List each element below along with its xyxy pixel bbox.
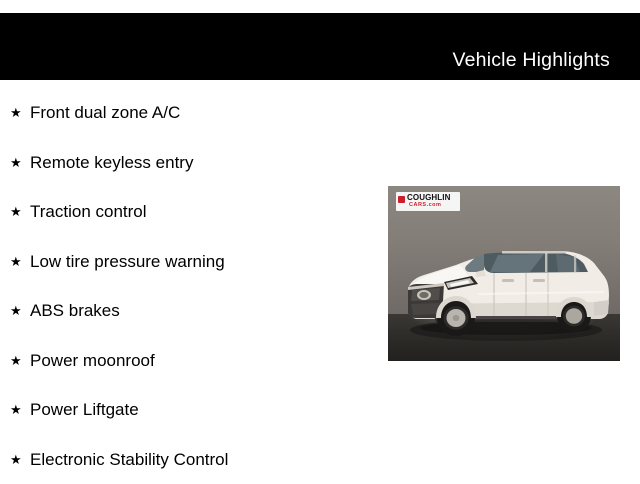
list-item: ★ Low tire pressure warning <box>0 237 380 287</box>
star-icon: ★ <box>10 138 22 188</box>
list-item: ★ Power moonroof <box>0 336 380 386</box>
list-item-label: Front dual zone A/C <box>30 103 180 122</box>
star-icon: ★ <box>10 336 22 386</box>
suv-illustration <box>398 232 612 344</box>
list-item-label: Remote keyless entry <box>30 153 193 172</box>
list-item: ★ Remote keyless entry <box>0 138 380 188</box>
slide-page: Vehicle Highlights ★ Front dual zone A/C… <box>0 0 640 480</box>
dealer-subtitle: CARS.com <box>409 202 441 209</box>
list-item: ★ ABS brakes <box>0 286 380 336</box>
star-icon: ★ <box>10 385 22 435</box>
star-icon: ★ <box>10 286 22 336</box>
list-item-label: Power moonroof <box>30 351 155 370</box>
list-item: ★ Front dual zone A/C <box>0 88 380 138</box>
dealer-watermark: COUGHLIN CARS.com <box>396 192 460 211</box>
list-item-label: Low tire pressure warning <box>30 252 225 271</box>
vehicle-photo: COUGHLIN CARS.com <box>388 186 620 361</box>
list-item-label: Electronic Stability Control <box>30 450 228 469</box>
star-icon: ★ <box>10 187 22 237</box>
vehicle-highlights-list: ★ Front dual zone A/C ★ Remote keyless e… <box>0 88 380 484</box>
list-item-label: Traction control <box>30 202 147 221</box>
star-icon: ★ <box>10 88 22 138</box>
star-icon: ★ <box>10 435 22 484</box>
list-item-label: ABS brakes <box>30 301 120 320</box>
dealer-logo-icon <box>398 196 405 203</box>
list-item-label: Power Liftgate <box>30 400 139 419</box>
star-icon: ★ <box>10 237 22 287</box>
header-banner: Vehicle Highlights <box>0 13 640 80</box>
page-title: Vehicle Highlights <box>452 49 610 72</box>
list-item: ★ Power Liftgate <box>0 385 380 435</box>
list-item: ★ Electronic Stability Control <box>0 435 380 484</box>
list-item: ★ Traction control <box>0 187 380 237</box>
